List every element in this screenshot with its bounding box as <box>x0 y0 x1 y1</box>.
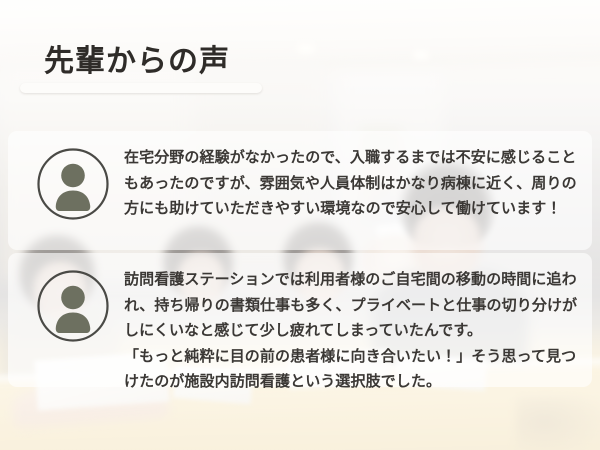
testimonial-line: しにくいなと感じて少し疲れてしまっていたんです。 <box>124 318 577 344</box>
slide-root: 先輩からの声 在宅分野の経験がなかったので、入職するまでは不安に感じること もあ… <box>0 0 600 450</box>
testimonial-line: 在宅分野の経験がなかったので、入職するまでは不安に感じること <box>124 145 577 171</box>
testimonial-card: 訪問看護ステーションでは利用者様のご自宅間の移動の時間に追わ れ、持ち帰りの書類… <box>8 253 592 387</box>
testimonial-line: れ、持ち帰りの書類仕事も多く、プライベートと仕事の切り分けが <box>124 293 577 319</box>
testimonial-line: けたのが施設内訪問看護という選択肢でした。 <box>124 369 577 395</box>
person-avatar-icon <box>36 269 110 343</box>
testimonial-card: 在宅分野の経験がなかったので、入職するまでは不安に感じること もあったのですが、… <box>8 131 592 250</box>
testimonial-line: 「もっと純粋に目の前の患者様に向き合いたい！」そう思って見つ <box>124 344 577 370</box>
testimonial-text: 訪問看護ステーションでは利用者様のご自宅間の移動の時間に追わ れ、持ち帰りの書類… <box>124 265 577 395</box>
testimonial-line: 方にも助けていただきやすい環境なので安心して働けています！ <box>124 196 577 222</box>
page-title: 先輩からの声 <box>44 44 230 80</box>
testimonial-text: 在宅分野の経験がなかったので、入職するまでは不安に感じること もあったのですが、… <box>124 143 577 222</box>
title-underline-bar <box>20 83 262 93</box>
testimonial-line: 訪問看護ステーションでは利用者様のご自宅間の移動の時間に追わ <box>124 267 577 293</box>
person-avatar-icon <box>36 147 110 221</box>
testimonial-line: もあったのですが、雰囲気や人員体制はかなり病棟に近く、周りの <box>124 171 577 197</box>
